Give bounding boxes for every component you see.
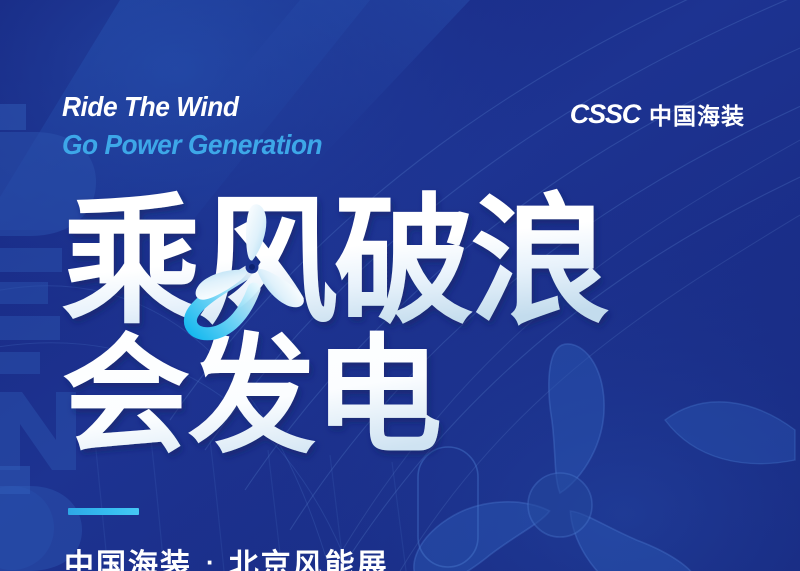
tagline-block: Ride The Wind Go Power Generation	[62, 92, 339, 160]
logo-latin-text: CSSC	[570, 99, 640, 130]
footer-separator: ·	[206, 547, 215, 571]
footer-block: 中国海装 · 北京风能展	[64, 540, 389, 571]
footer-event: 北京风能展	[229, 540, 389, 571]
wind-turbine-icon	[0, 0, 800, 571]
logo-chinese-text: 中国海装	[649, 97, 745, 131]
tagline-line-2: Go Power Generation	[62, 130, 322, 159]
tagline-line-1: Ride The Wind	[62, 92, 322, 121]
poster-canvas: RIDE WIND	[0, 0, 800, 571]
accent-bar	[68, 508, 139, 515]
footer-org: 中国海装	[64, 540, 192, 571]
brand-logo: CSSC 中国海装	[570, 97, 745, 131]
